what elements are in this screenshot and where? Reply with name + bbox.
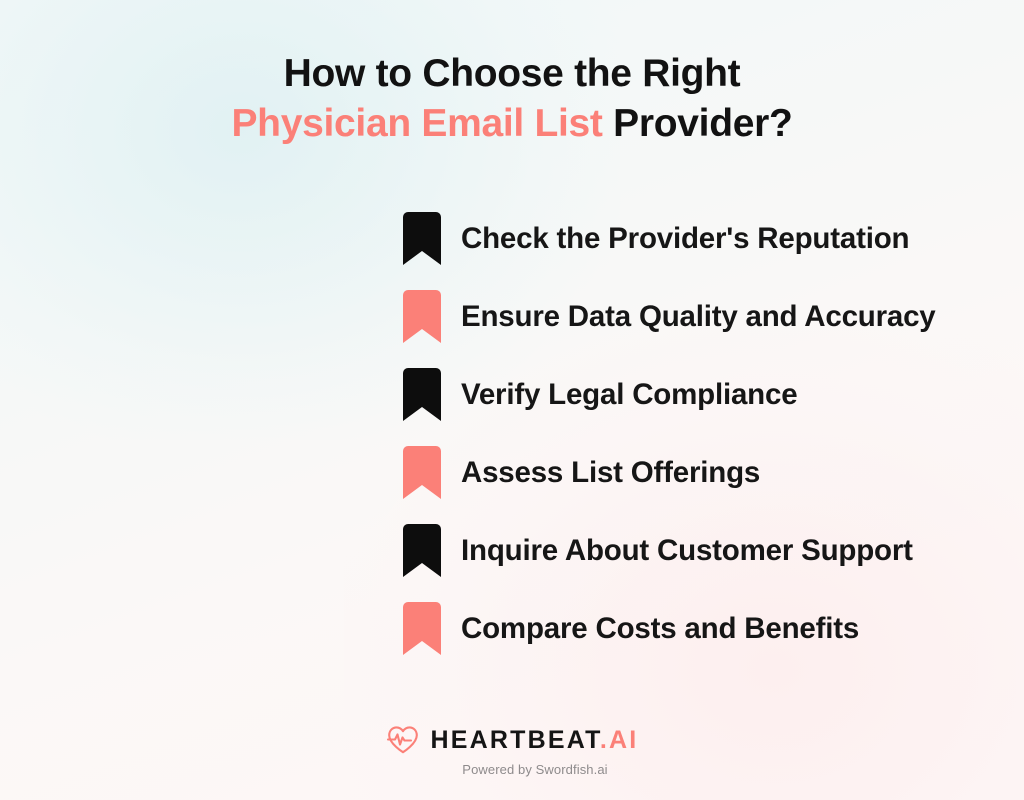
bookmark-icon bbox=[399, 212, 445, 265]
logo-wordmark: HEARTBEAT.AI bbox=[431, 728, 639, 753]
bookmark-icon bbox=[399, 524, 445, 577]
heartbeat-pulse-icon bbox=[386, 725, 420, 755]
list-item: Compare Costs and Benefits bbox=[399, 589, 832, 667]
logo-wordmark-suffix: .AI bbox=[600, 726, 639, 754]
title-line-2-rest: Provider? bbox=[603, 102, 793, 145]
poster-content: How to Choose the Right Physician Email … bbox=[0, 0, 1024, 800]
checklist: Check the Provider's Reputation Ensure D… bbox=[192, 199, 832, 667]
bookmark-icon bbox=[399, 446, 445, 499]
title-highlight: Physician Email List bbox=[231, 102, 602, 145]
list-item-label: Check the Provider's Reputation bbox=[461, 224, 909, 254]
list-item-label: Compare Costs and Benefits bbox=[461, 614, 859, 644]
title-line-1: How to Choose the Right bbox=[231, 52, 792, 96]
list-item: Ensure Data Quality and Accuracy bbox=[399, 277, 832, 355]
brand-logo: HEARTBEAT.AI Powered by Swordfish.ai bbox=[386, 725, 639, 777]
title-line-2: Physician Email List Provider? bbox=[231, 102, 792, 146]
list-item-label: Inquire About Customer Support bbox=[461, 536, 913, 566]
list-item: Check the Provider's Reputation bbox=[399, 199, 832, 277]
list-item-label: Verify Legal Compliance bbox=[461, 380, 797, 410]
page-title: How to Choose the Right Physician Email … bbox=[231, 52, 792, 145]
bookmark-icon bbox=[399, 368, 445, 421]
list-item-label: Assess List Offerings bbox=[461, 458, 760, 488]
infographic-poster: How to Choose the Right Physician Email … bbox=[0, 0, 1024, 800]
list-item-label: Ensure Data Quality and Accuracy bbox=[461, 302, 936, 332]
bookmark-icon bbox=[399, 602, 445, 655]
list-item: Assess List Offerings bbox=[399, 433, 832, 511]
logo-tagline: Powered by Swordfish.ai bbox=[462, 762, 607, 777]
list-item: Inquire About Customer Support bbox=[399, 511, 832, 589]
bookmark-icon bbox=[399, 290, 445, 343]
list-item: Verify Legal Compliance bbox=[399, 355, 832, 433]
logo-wordmark-main: HEARTBEAT bbox=[431, 726, 600, 754]
logo-row: HEARTBEAT.AI bbox=[386, 725, 639, 755]
